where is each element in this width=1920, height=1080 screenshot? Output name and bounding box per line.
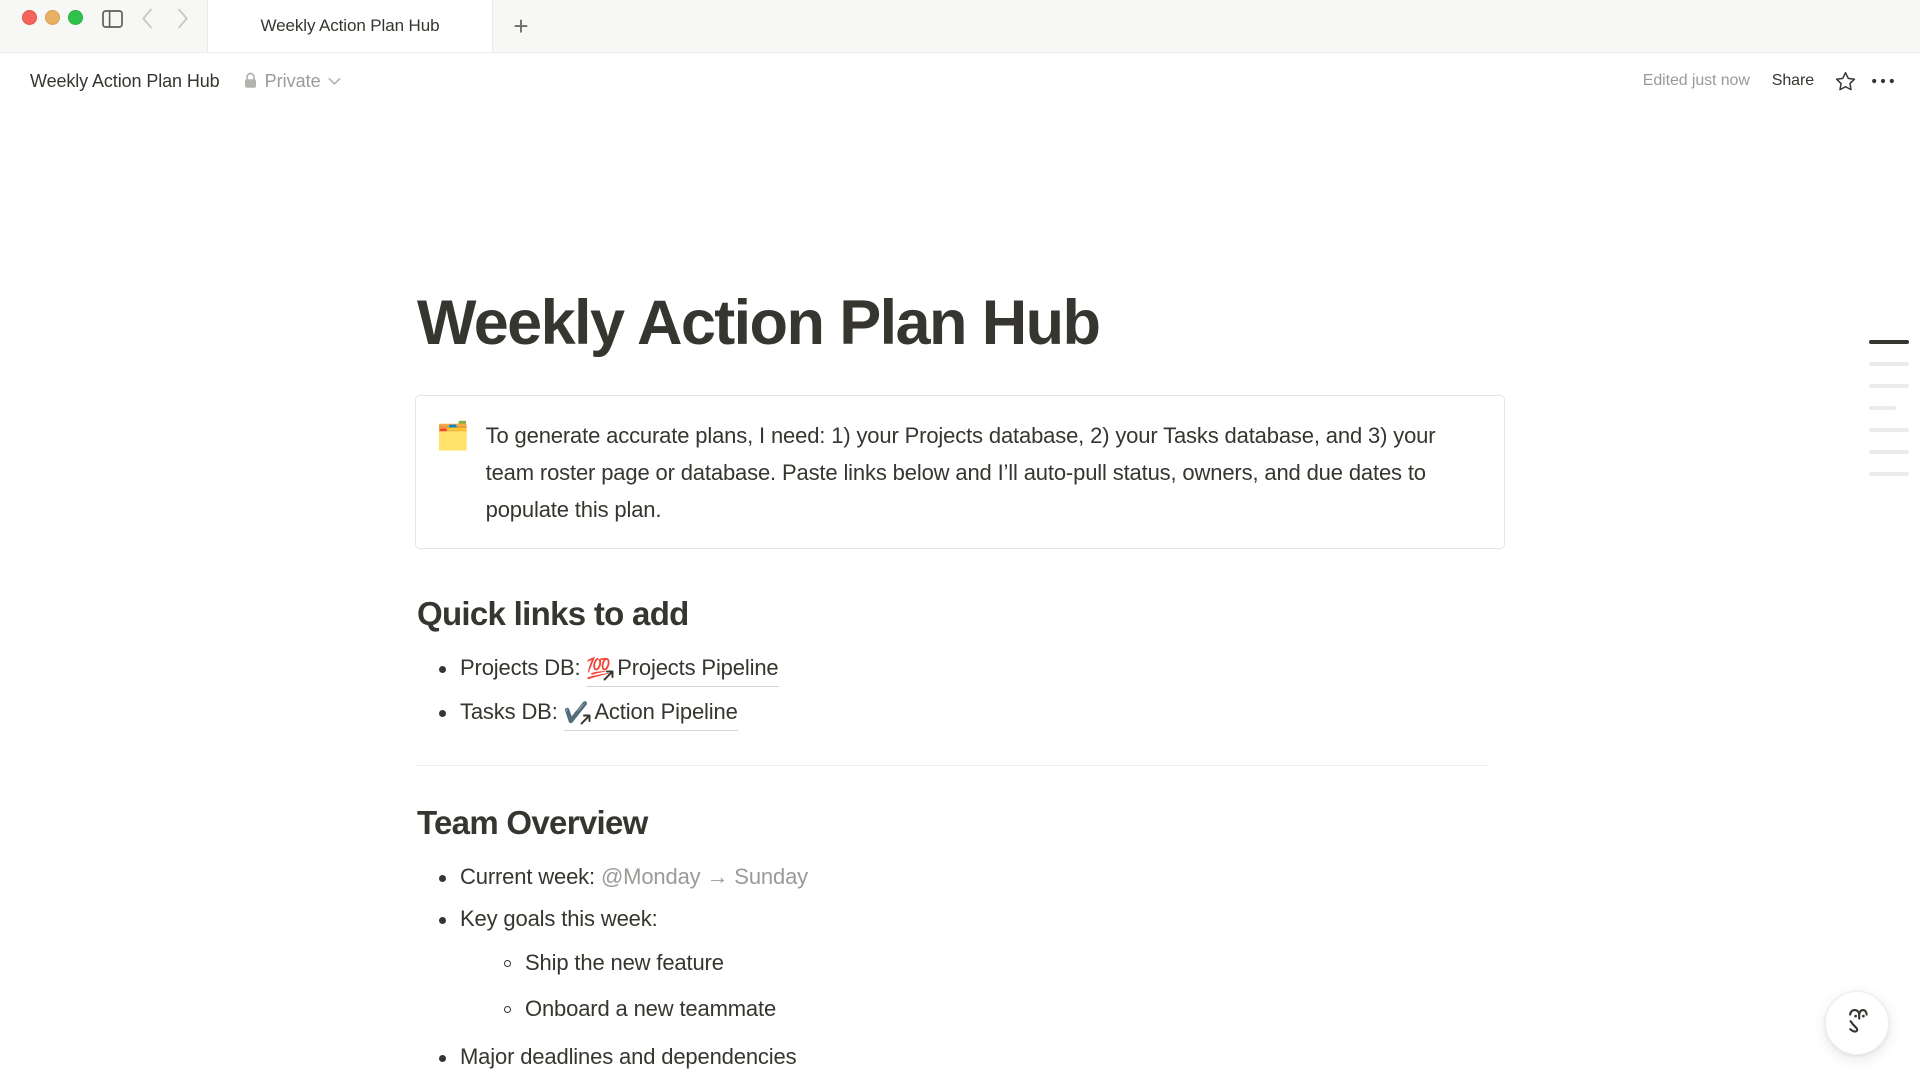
team-overview-list: Current week: @Monday → Sunday Key goals… [415, 856, 1505, 1078]
ask-ai-button[interactable] [1825, 991, 1889, 1055]
notion-ai-face-icon [1842, 1006, 1872, 1041]
outline-entry[interactable] [1869, 340, 1909, 344]
list-item-prefix: Tasks DB: [460, 699, 564, 724]
heading-team-overview[interactable]: Team Overview [415, 804, 1505, 842]
outline-minimap[interactable] [1856, 340, 1920, 476]
lock-icon [243, 72, 258, 90]
outline-entry[interactable] [1869, 450, 1909, 454]
callout-text[interactable]: To generate accurate plans, I need: 1) y… [486, 416, 1482, 528]
current-week-label: Current week: [460, 864, 601, 889]
outline-entry[interactable] [1869, 428, 1909, 432]
breadcrumb-page-title[interactable]: Weekly Action Plan Hub [24, 68, 226, 95]
list-item[interactable]: Projects DB: 💯Projects Pipeline [437, 647, 1505, 691]
tab-weekly-action-plan-hub[interactable]: Weekly Action Plan Hub [207, 0, 493, 52]
topbar-actions: Edited just now Share [1635, 64, 1920, 98]
arrow-up-right-icon [602, 669, 615, 682]
card-index-dividers-emoji[interactable]: 🗂️ [436, 416, 470, 528]
list-item[interactable]: Current week: @Monday → Sunday [437, 856, 1505, 898]
chevron-right-icon[interactable] [167, 4, 197, 34]
check-mark-emoji: ✔️ [564, 703, 589, 723]
page-link-projects-pipeline[interactable]: 💯Projects Pipeline [586, 651, 778, 687]
outline-entry[interactable] [1869, 362, 1909, 366]
window-nav-icons [97, 0, 201, 52]
close-window-button[interactable] [22, 10, 37, 25]
page-link-action-pipeline[interactable]: ✔️Action Pipeline [564, 695, 738, 731]
maximize-window-button[interactable] [68, 10, 83, 25]
share-button[interactable]: Share [1762, 67, 1824, 95]
page-visibility-label: Private [265, 71, 321, 92]
ellipsis-icon[interactable] [1866, 64, 1900, 98]
list-item[interactable]: Tasks DB: ✔️Action Pipeline [437, 691, 1505, 735]
breadcrumb: Weekly Action Plan Hub Private [0, 68, 348, 95]
page-link-label: Projects Pipeline [617, 651, 778, 685]
edited-status[interactable]: Edited just now [1635, 67, 1758, 95]
arrow-up-right-icon [579, 713, 592, 726]
hundred-points-emoji: 💯 [586, 659, 611, 679]
key-goals-label: Key goals this week: [460, 906, 658, 931]
outline-entry[interactable] [1869, 384, 1909, 388]
key-goals-sublist: Ship the new feature Onboard a new teamm… [460, 940, 1505, 1032]
window-controls [0, 0, 97, 52]
page-scroll-area[interactable]: Weekly Action Plan Hub 🗂️ To generate ac… [0, 109, 1920, 1080]
sidebar-panel-icon[interactable] [97, 4, 127, 34]
minimize-window-button[interactable] [45, 10, 60, 25]
tab-label: Weekly Action Plan Hub [261, 16, 440, 36]
list-item[interactable]: Key goals this week: Ship the new featur… [437, 898, 1505, 1036]
tab-strip: Weekly Action Plan Hub + [207, 0, 549, 52]
list-item[interactable]: Major deadlines and dependencies [437, 1036, 1505, 1078]
page-link-label: Action Pipeline [594, 695, 737, 729]
star-icon[interactable] [1828, 64, 1862, 98]
divider [417, 765, 1487, 766]
page-topbar: Weekly Action Plan Hub Private Edited ju… [0, 53, 1920, 109]
current-week-mention[interactable]: @Monday → Sunday [601, 864, 808, 889]
chevron-down-icon [328, 77, 341, 86]
list-item[interactable]: Onboard a new teammate [502, 986, 1505, 1032]
plus-icon: + [513, 13, 528, 39]
chevron-left-icon[interactable] [132, 4, 162, 34]
list-item-prefix: Projects DB: [460, 655, 586, 680]
outline-entry[interactable] [1869, 406, 1896, 410]
list-item[interactable]: Ship the new feature [502, 940, 1505, 986]
quick-links-list: Projects DB: 💯Projects Pipeline Tasks DB… [415, 647, 1505, 735]
page-content: Weekly Action Plan Hub 🗂️ To generate ac… [415, 109, 1505, 1078]
new-tab-button[interactable]: + [493, 0, 549, 52]
page-visibility-button[interactable]: Private [236, 68, 348, 95]
callout-block[interactable]: 🗂️ To generate accurate plans, I need: 1… [415, 395, 1505, 549]
page-title[interactable]: Weekly Action Plan Hub [415, 287, 1505, 359]
outline-entry[interactable] [1869, 472, 1909, 476]
window-titlebar: Weekly Action Plan Hub + [0, 0, 1920, 53]
heading-quick-links-to-add[interactable]: Quick links to add [415, 595, 1505, 633]
